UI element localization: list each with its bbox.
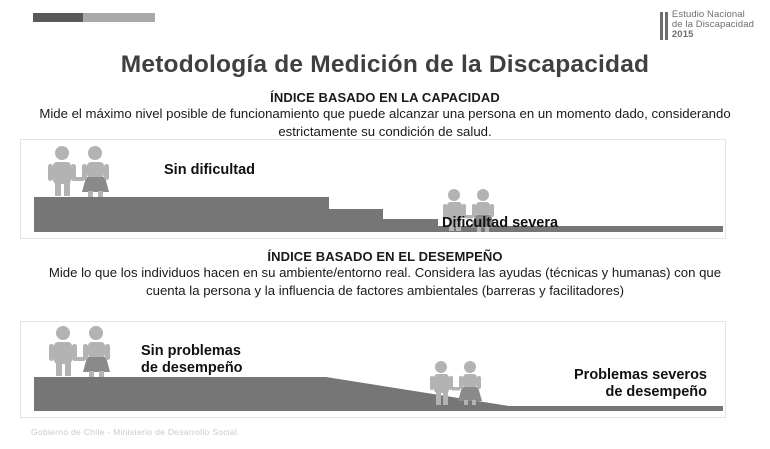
woman-head-icon [88,146,102,160]
woman-head-icon [477,189,489,201]
staircase-chart [21,140,725,238]
footer-text: Gobierno de Chile - Ministerio de Desarr… [31,427,237,437]
woman-torso-icon [476,202,490,216]
staircase-area [34,197,723,232]
logo-line-3: 2015 [672,29,694,40]
man-head-icon [448,189,460,201]
label-problemas-severos-desempeno: Problemas severos de desempeño [364,367,707,401]
ramp-graphic: Sin problemas de desempeño Problemas sev… [21,322,725,417]
man-head-icon [55,146,69,160]
slide-canvas: Estudio Nacional de la Discapacidad 2015… [0,0,770,449]
header-accent-bar [33,13,155,22]
staircase-graphic: Sin dificultad Dificultad severa [21,140,725,238]
man-torso-icon [53,162,71,184]
man-torso-icon [54,342,72,364]
logo-text: Estudio Nacional de la Discapacidad 2015 [672,10,754,40]
accent-bar-light-segment [83,13,155,22]
vertical-bars-icon [660,10,668,40]
woman-torso-icon [88,342,105,358]
label-dificultad-severa: Dificultad severa [442,215,558,232]
label-sin-problemas-desempeno: Sin problemas de desempeño [141,343,243,377]
section-description-capacidad: Mide el máximo nivel posible de funciona… [30,105,740,140]
section-description-desempeno: Mide lo que los individuos hacen en su a… [30,264,740,299]
section-heading-desempeno: ÍNDICE BASADO EN EL DESEMPEÑO [0,249,770,264]
diagram-panel-capacidad: Sin dificultad Dificultad severa [20,139,726,239]
woman-torso-icon [87,162,104,178]
accent-bar-dark-segment [33,13,83,22]
woman-head-icon [89,326,103,340]
page-title: Metodología de Medición de la Discapacid… [0,51,770,79]
section-heading-capacidad: ÍNDICE BASADO EN LA CAPACIDAD [0,90,770,105]
diagram-panel-desempeno: Sin problemas de desempeño Problemas sev… [20,321,726,418]
study-logo: Estudio Nacional de la Discapacidad 2015 [660,10,754,40]
man-head-icon [56,326,70,340]
label-sin-dificultad: Sin dificultad [164,162,255,179]
